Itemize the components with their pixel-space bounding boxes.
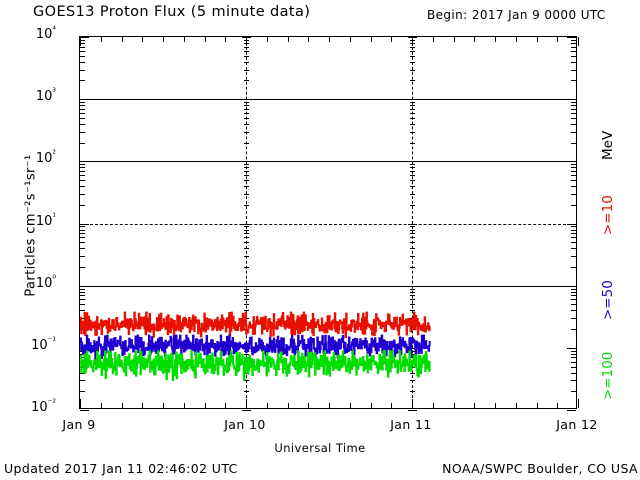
trace--100-mev	[80, 351, 430, 380]
x-axis-title: Universal Time	[0, 441, 640, 455]
legend-item->=50: >=50	[600, 280, 616, 320]
x-tick-label: Jan 9	[62, 417, 95, 432]
source-attribution: NOAA/SWPC Boulder, CO USA	[442, 461, 638, 476]
legend-unit-label: MeV	[600, 131, 616, 160]
y-tick-mark	[567, 410, 576, 411]
x-tick-mark	[578, 399, 579, 408]
y-tick-label: 10⁴	[36, 27, 56, 42]
y-tick-mark-inner	[408, 410, 417, 411]
trace--10-mev	[80, 313, 430, 337]
y-tick-mark-inner	[242, 410, 251, 411]
x-tick-label: Jan 10	[224, 417, 266, 432]
plot-area	[79, 36, 577, 409]
x-tick-mark	[578, 37, 579, 46]
data-traces	[80, 37, 576, 408]
y-tick-label: 10⁰	[36, 276, 56, 291]
x-tick-label: Jan 11	[390, 417, 432, 432]
y-tick-label: 10¹	[36, 214, 56, 229]
y-tick-label: 10²	[36, 151, 56, 166]
y-tick-mark	[80, 410, 89, 411]
legend-item->=100: >=100	[600, 352, 616, 400]
chart-canvas: GOES13 Proton Flux (5 minute data) Begin…	[0, 0, 640, 480]
trace--50-mev	[80, 336, 430, 360]
legend-item->=10: >=10	[600, 195, 616, 235]
x-tick-label: Jan 12	[556, 417, 598, 432]
y-tick-label: 10³	[36, 89, 56, 104]
chart-title: GOES13 Proton Flux (5 minute data)	[33, 4, 310, 20]
begin-time-label: Begin: 2017 Jan 9 0000 UTC	[427, 8, 606, 22]
y-tick-label: 10⁻²	[31, 400, 56, 415]
updated-timestamp: Updated 2017 Jan 11 02:46:02 UTC	[4, 461, 238, 476]
y-tick-label: 10⁻¹	[31, 338, 56, 353]
